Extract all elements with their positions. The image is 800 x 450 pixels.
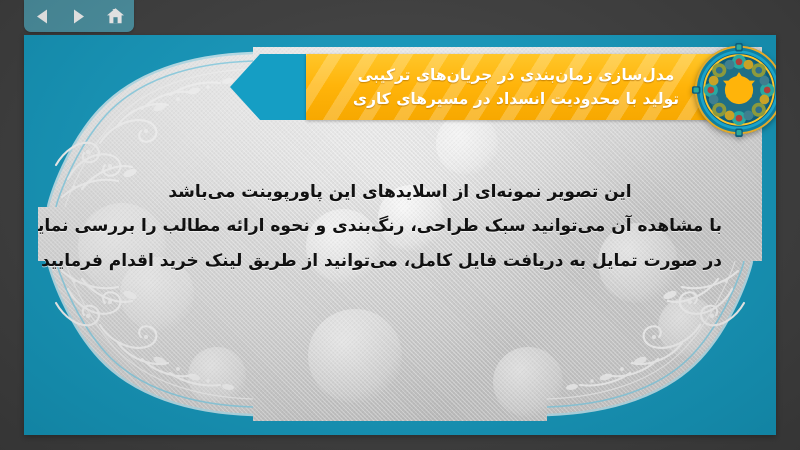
title-banner: مدل‌سازی زمان‌بندی در جریان‌های ترکیبی ت… <box>306 54 726 120</box>
title-line-1: مدل‌سازی زمان‌بندی در جریان‌های ترکیبی <box>358 63 675 87</box>
arabesque-corner-bottom-left <box>38 261 253 421</box>
slide-body-text: این تصویر نمونه‌ای از اسلایدهای این پاور… <box>78 181 722 272</box>
home-button[interactable] <box>103 4 129 28</box>
bokeh-circle <box>188 347 246 405</box>
triangle-left-icon <box>34 8 51 25</box>
previous-button[interactable] <box>29 4 55 28</box>
title-line-2: تولید با محدودیت انسداد در مسیرهای کاری <box>353 87 679 111</box>
triangle-right-icon <box>70 8 87 25</box>
banner-notch-shape <box>230 54 318 120</box>
home-icon <box>106 7 125 25</box>
slide-card: این تصویر نمونه‌ای از اسلایدهای این پاور… <box>24 35 776 435</box>
next-button[interactable] <box>66 4 92 28</box>
body-line-1: این تصویر نمونه‌ای از اسلایدهای این پاور… <box>78 181 722 203</box>
bokeh-circle <box>308 309 402 403</box>
bokeh-circle <box>436 113 498 175</box>
slide-root: این تصویر نمونه‌ای از اسلایدهای این پاور… <box>0 0 800 450</box>
body-line-2: با مشاهده آن می‌توانید سبک طراحی، رنگ‌بن… <box>78 215 722 237</box>
arabesque-corner-bottom-right <box>547 261 762 421</box>
bokeh-circle <box>493 347 563 417</box>
navigation-bar <box>24 0 134 32</box>
bokeh-circle <box>658 297 718 357</box>
body-line-3: در صورت تمایل به دریافت فایل کامل، می‌تو… <box>78 250 722 272</box>
persian-medallion-icon <box>692 43 776 137</box>
